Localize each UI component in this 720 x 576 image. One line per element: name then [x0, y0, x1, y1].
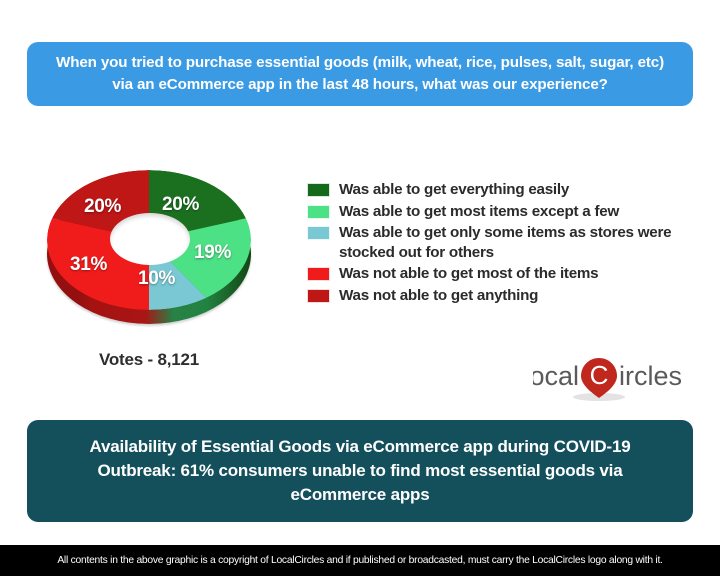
votes-count-label: Votes - 8,121: [46, 350, 252, 370]
question-text: When you tried to purchase essential goo…: [49, 52, 671, 95]
donut-center-hole: [110, 213, 190, 265]
legend-label: Was able to get everything easily: [339, 180, 569, 200]
legend-label: Was not able to get anything: [339, 286, 538, 306]
chart-legend: Was able to get everything easily Was ab…: [307, 180, 697, 308]
legend-label: Was able to get most items except a few: [339, 202, 619, 222]
legend-swatch-icon: [307, 205, 330, 219]
legend-label: Was not able to get most of the items: [339, 264, 598, 284]
headline-text: Availability of Essential Goods via eCom…: [53, 435, 667, 508]
logo-pin-letter: C: [590, 360, 609, 390]
legend-item: Was not able to get most of the items: [307, 264, 697, 284]
copyright-strip: All contents in the above graphic is a c…: [0, 545, 720, 576]
slice-label-3: 31%: [70, 254, 107, 276]
copyright-text: All contents in the above graphic is a c…: [57, 555, 662, 566]
legend-swatch-icon: [307, 267, 330, 281]
legend-item: Was able to get most items except a few: [307, 202, 697, 222]
legend-item: Was able to get only some items as store…: [307, 223, 697, 262]
logo-text-right: ircles: [619, 361, 682, 391]
slice-label-4: 20%: [84, 196, 121, 218]
legend-item: Was able to get everything easily: [307, 180, 697, 200]
logo-text-left: Local: [533, 361, 579, 391]
pie-chart: 20% 19% 10% 31% 20% Votes - 8,121: [0, 118, 300, 388]
localcircles-logo: C Local ircles: [533, 352, 697, 402]
slice-label-2: 10%: [138, 268, 175, 290]
legend-item: Was not able to get anything: [307, 286, 697, 306]
legend-label: Was able to get only some items as store…: [339, 223, 697, 262]
legend-swatch-icon: [307, 226, 330, 240]
slice-label-1: 19%: [194, 242, 231, 264]
legend-swatch-icon: [307, 289, 330, 303]
logo-graphic: C Local ircles: [533, 352, 697, 402]
slice-label-0: 20%: [162, 194, 199, 216]
question-banner: When you tried to purchase essential goo…: [27, 42, 693, 106]
donut-chart-graphic: 20% 19% 10% 31% 20%: [46, 162, 252, 342]
headline-banner: Availability of Essential Goods via eCom…: [27, 420, 693, 522]
legend-swatch-icon: [307, 183, 330, 197]
